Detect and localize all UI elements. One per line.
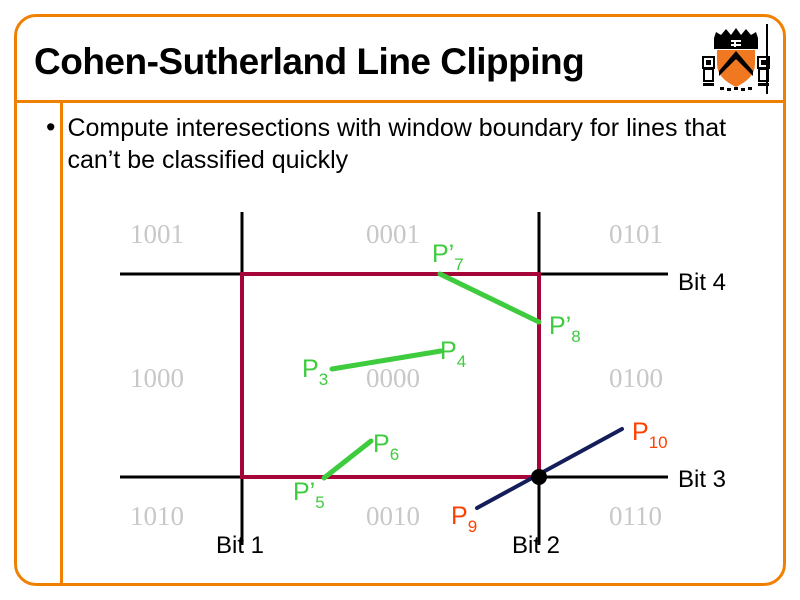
region-code-1010: 1010 — [130, 501, 184, 531]
region-code-0000: 0000 — [366, 363, 420, 393]
region-code-0101: 0101 — [609, 219, 663, 249]
region-code-0100: 0100 — [609, 363, 663, 393]
cohen-sutherland-region-diagram: 100100010101100000000100101000100110 P3P… — [0, 0, 800, 600]
point-label-p10: P10 — [632, 418, 668, 452]
bit-label-bit-2: Bit 2 — [512, 532, 560, 559]
line-segment-p9-p10 — [477, 429, 622, 508]
point-label-p3: P3 — [302, 355, 328, 389]
region-code-0010: 0010 — [366, 501, 420, 531]
region-code-0110: 0110 — [609, 501, 662, 531]
clip-intersection-dot — [531, 469, 547, 485]
region-code-0001: 0001 — [366, 219, 420, 249]
slide-canvas: Cohen-Sutherland Line Clipping — [0, 0, 800, 600]
region-code-1000: 1000 — [130, 363, 184, 393]
line-segment-p7-p8 — [440, 274, 539, 322]
point-label-pprime7: P’7 — [432, 240, 464, 274]
point-label-p9: P9 — [451, 502, 477, 536]
point-label-p4: P4 — [440, 337, 466, 371]
point-label-pprime5: P’5 — [293, 478, 325, 512]
bit-label-bit-3: Bit 3 — [678, 466, 726, 493]
region-code-1001: 1001 — [130, 219, 184, 249]
point-label-p6: P6 — [373, 430, 399, 464]
point-label-pprime8: P’8 — [549, 312, 581, 346]
line-segment-p5-p6 — [324, 441, 371, 478]
bit-label-bit-1: Bit 1 — [216, 532, 264, 559]
bit-label-bit-4: Bit 4 — [678, 269, 726, 296]
